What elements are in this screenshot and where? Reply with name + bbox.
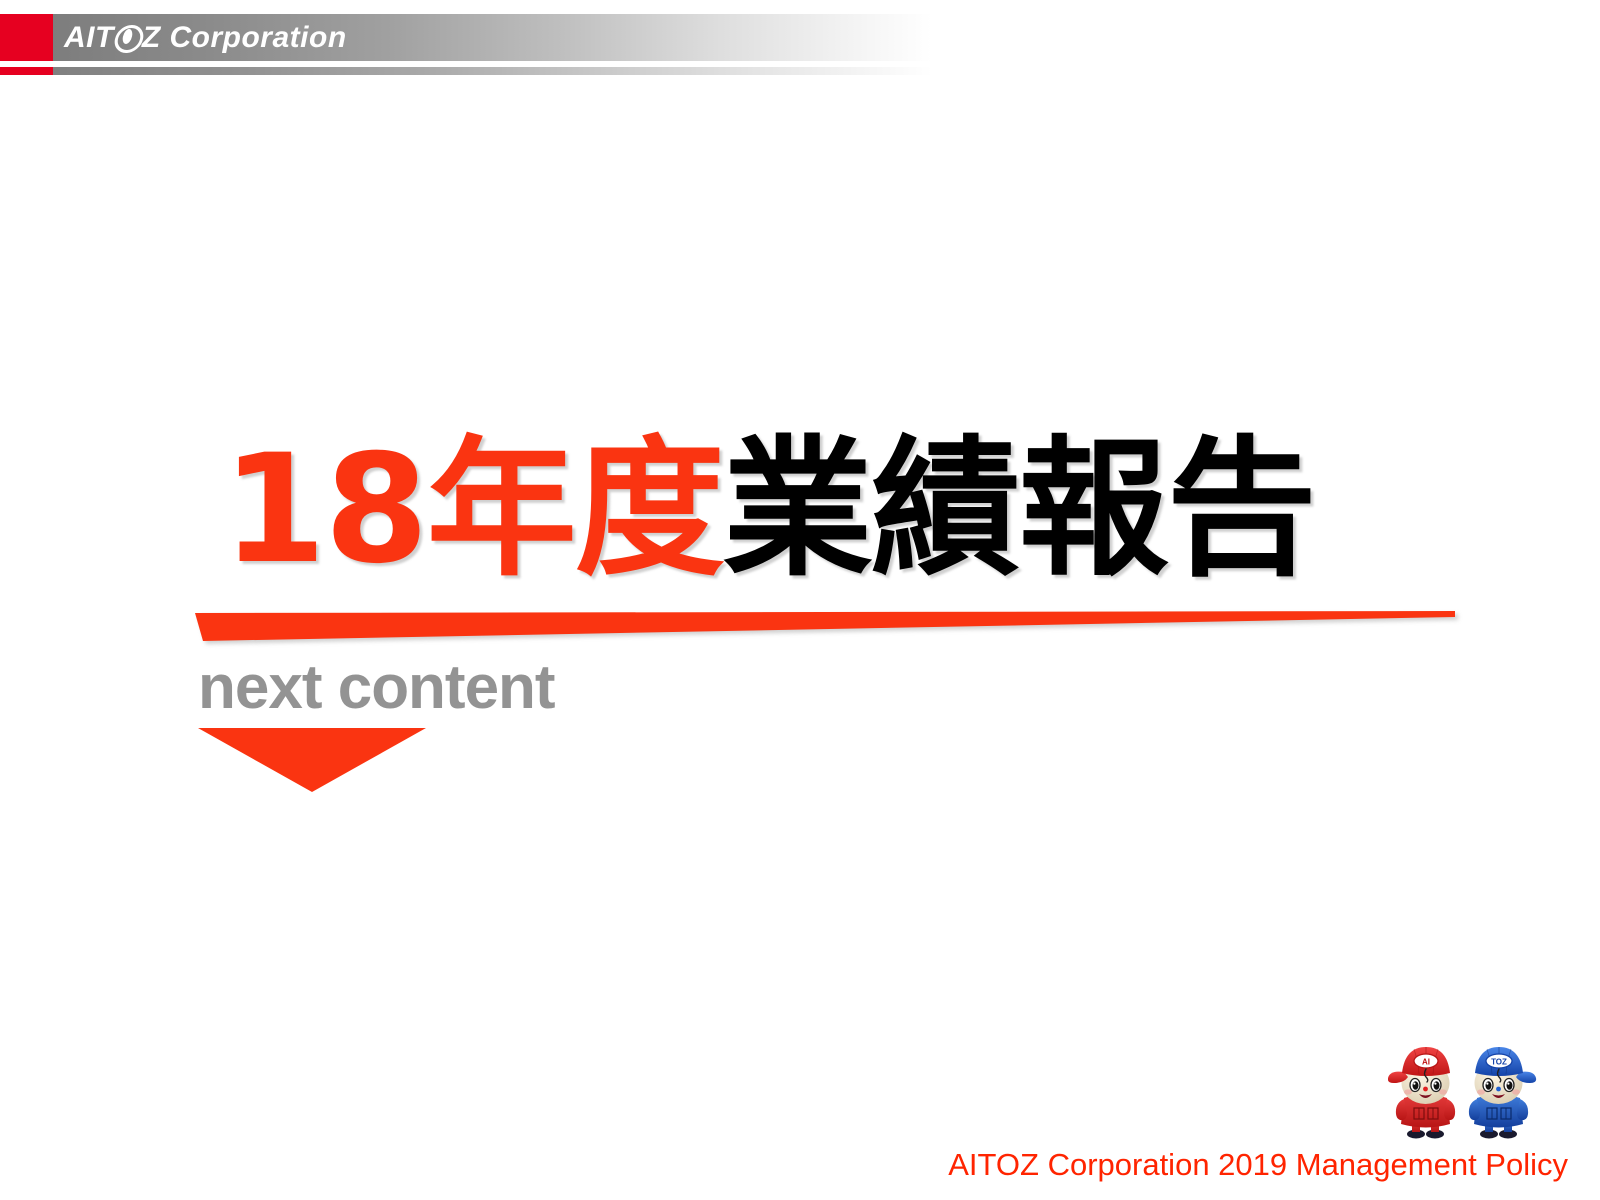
title-underline-wedge	[195, 611, 1455, 641]
aitoz-eye-o-icon	[115, 25, 141, 51]
page-title-red-segment: 18年度	[222, 423, 723, 597]
slide-header: AITZ Corporation	[0, 0, 1600, 80]
company-logo-text: AITZ Corporation	[64, 18, 347, 58]
header-red-block-thin	[0, 67, 53, 75]
page-title: 18年度業績報告	[222, 430, 1315, 590]
aitoz-mascot-pair-icon: AI	[1388, 1028, 1568, 1140]
page-title-black-segment: 業績報告	[723, 423, 1315, 597]
svg-text:TOZ: TOZ	[1491, 1058, 1507, 1067]
company-logo-text-suffix: Z Corporation	[142, 21, 347, 54]
footer-copyright-text: AITOZ Corporation 2019 Management Policy	[0, 1146, 1568, 1184]
next-content-label: next content	[198, 650, 555, 726]
slide-canvas: AITZ Corporation 18年度業績報告 next content	[0, 0, 1600, 1200]
company-logo-text-prefix: AIT	[64, 21, 114, 54]
svg-text:AI: AI	[1422, 1058, 1430, 1067]
header-red-block	[0, 14, 53, 61]
down-triangle-arrow-icon	[198, 728, 426, 792]
header-gradient-bar-thin	[52, 67, 932, 75]
